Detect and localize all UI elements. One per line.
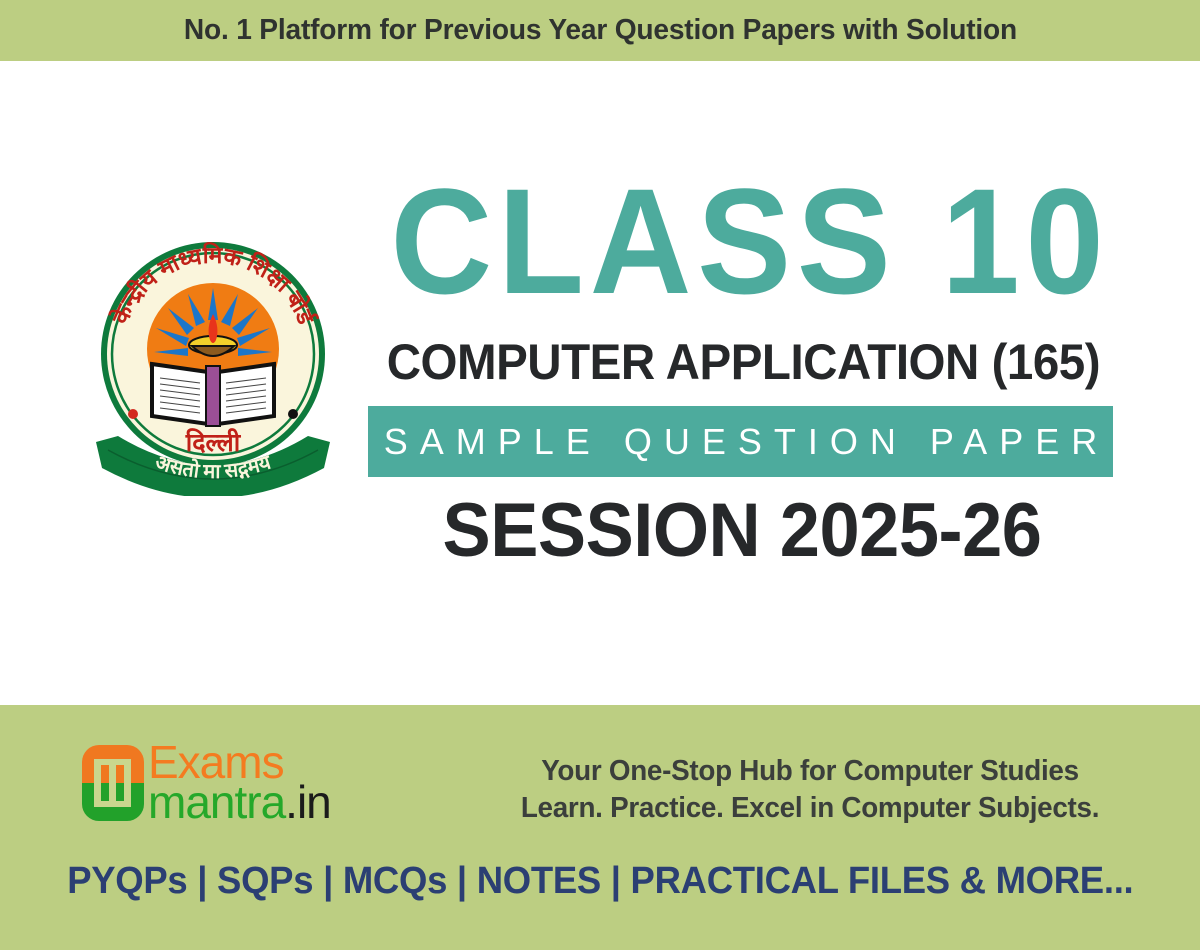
brand-logo[interactable]: Exams mantra.in bbox=[80, 741, 331, 824]
top-banner-text: No. 1 Platform for Previous Year Questio… bbox=[183, 14, 1016, 47]
cbse-board-logo: केन्द्रीय माध्यमिक शिक्षा बोर्ड bbox=[88, 236, 338, 496]
logo-right-dot bbox=[288, 409, 298, 419]
footer-tagline: Your One-Stop Hub for Computer Studies L… bbox=[460, 753, 1160, 827]
class-heading: CLASS 10 bbox=[390, 166, 1093, 316]
tagline-line-2: Learn. Practice. Excel in Computer Subje… bbox=[474, 790, 1146, 827]
main-content-area: केन्द्रीय माध्यमिक शिक्षा बोर्ड bbox=[0, 61, 1200, 705]
brand-word-mantra: mantra bbox=[148, 776, 285, 828]
footer-links-text[interactable]: PYQPs | SQPs | MCQs | NOTES | PRACTICAL … bbox=[67, 860, 1133, 903]
subject-heading: COMPUTER APPLICATION (165) bbox=[387, 334, 1098, 390]
title-block: CLASS 10 COMPUTER APPLICATION (165) SAMP… bbox=[368, 166, 1116, 573]
session-heading: SESSION 2025-26 bbox=[387, 489, 1098, 573]
footer-band: Exams mantra.in Your One-Stop Hub for Co… bbox=[0, 705, 1200, 950]
footer-links-row: PYQPs | SQPs | MCQs | NOTES | PRACTICAL … bbox=[0, 860, 1200, 903]
brand-wordmark: Exams mantra.in bbox=[148, 741, 331, 824]
brand-line-mantra-in: mantra.in bbox=[148, 781, 331, 823]
logo-city-text: दिल्ली bbox=[185, 428, 242, 457]
tagline-line-1: Your One-Stop Hub for Computer Studies bbox=[474, 753, 1146, 790]
logo-left-dot bbox=[128, 409, 138, 419]
cbse-logo-svg: केन्द्रीय माध्यमिक शिक्षा बोर्ड bbox=[88, 236, 338, 496]
top-banner: No. 1 Platform for Previous Year Questio… bbox=[0, 0, 1200, 61]
brand-word-dotin: .in bbox=[285, 776, 331, 828]
paper-type-bar: SAMPLE QUESTION PAPER bbox=[368, 406, 1113, 477]
paper-type-label: SAMPLE QUESTION PAPER bbox=[372, 421, 1109, 463]
logo-open-book bbox=[152, 364, 274, 426]
poster-page: No. 1 Platform for Previous Year Questio… bbox=[0, 0, 1200, 950]
examsmantra-logo-mark-icon bbox=[80, 741, 146, 823]
